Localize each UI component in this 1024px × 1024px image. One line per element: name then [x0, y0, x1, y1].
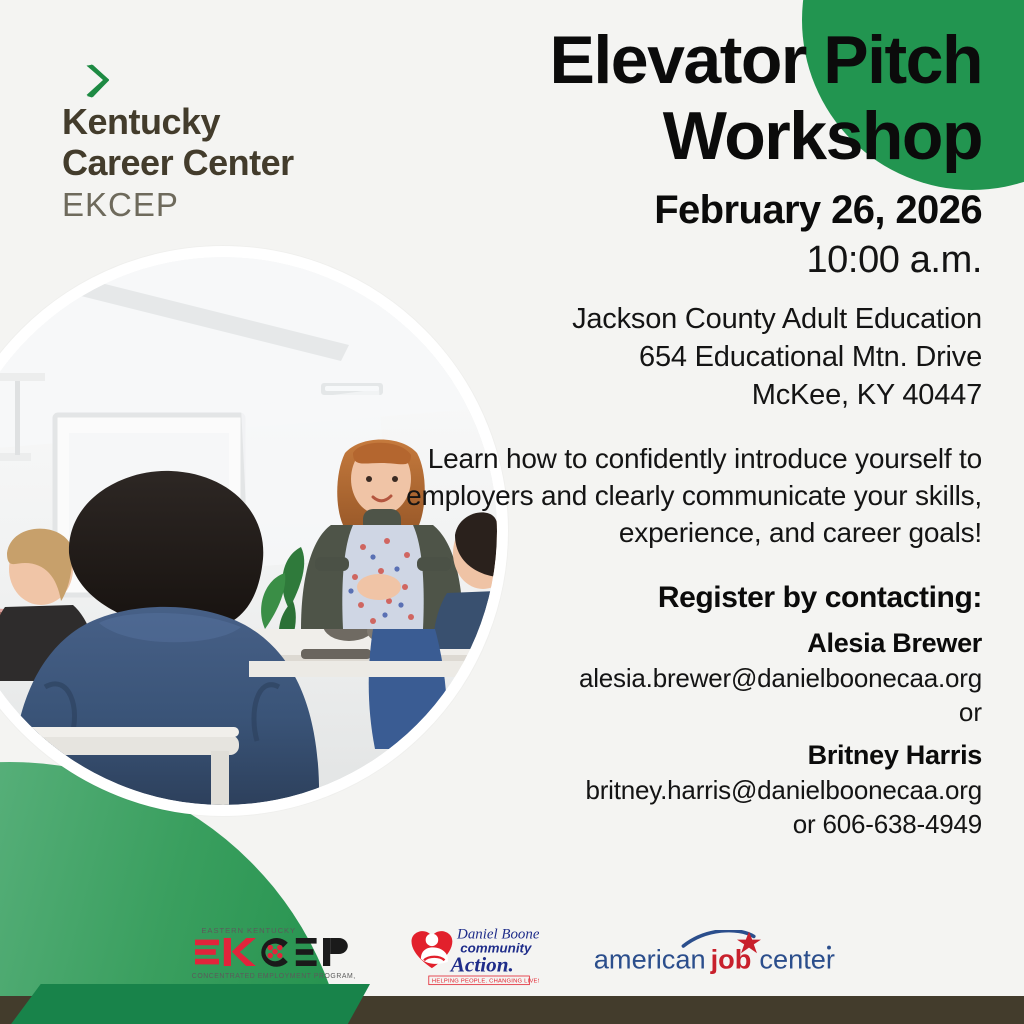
venue-line-2: 654 Educational Mtn. Drive — [404, 338, 982, 376]
kcc-line-ekcep: EKCEP — [62, 186, 294, 224]
event-flyer: Kentucky Career Center EKCEP — [0, 0, 1024, 1024]
register-heading: Register by contacting: — [404, 579, 982, 617]
event-date: February 26, 2026 — [404, 186, 982, 234]
dbca-tagline: HELPING PEOPLE. CHANGING LIVES. — [432, 979, 539, 985]
ajc-part-1: american — [594, 943, 706, 974]
page-title: Elevator Pitch Workshop — [404, 22, 982, 174]
dbca-line-3: Action. — [449, 952, 514, 976]
ekcep-logo: EASTERN KENTUCKY — [187, 922, 355, 986]
contact-name-1: Alesia Brewer — [404, 625, 982, 661]
event-description: Learn how to confidently introduce yours… — [404, 440, 982, 551]
venue-line-1: Jackson County Adult Education — [404, 300, 982, 338]
ekcep-bottom-text: CONCENTRATED EMPLOYMENT PROGRAM, INC. — [192, 973, 355, 980]
contact-phone[interactable]: or 606-638-4949 — [404, 807, 982, 841]
ekcep-logo-graphic: EASTERN KENTUCKY — [187, 922, 355, 986]
kcc-line-career-center: Career Center — [62, 142, 294, 184]
contact-email-1[interactable]: alesia.brewer@danielboonecaa.org — [404, 661, 982, 695]
title-line-2: Workshop — [663, 98, 982, 174]
american-job-center-logo: american job center — [589, 930, 837, 978]
chevron-right-icon — [84, 64, 110, 98]
contact-email-2[interactable]: britney.harris@danielboonecaa.org — [404, 773, 982, 807]
ajc-part-2: job — [710, 943, 752, 974]
kcc-line-kentucky: Kentucky — [62, 102, 294, 142]
partner-logos: EASTERN KENTUCKY — [0, 918, 1024, 990]
flyer-content: Elevator Pitch Workshop February 26, 202… — [404, 22, 982, 841]
contact-name-2: Britney Harris — [404, 737, 982, 773]
footer-green-angle-bar — [0, 984, 370, 1024]
dbca-logo-graphic: Daniel Boone community Action. HELPING P… — [405, 921, 539, 987]
kentucky-career-center-logo: Kentucky Career Center EKCEP — [62, 64, 294, 224]
venue-line-3: McKee, KY 40447 — [404, 376, 982, 414]
event-time: 10:00 a.m. — [404, 236, 982, 284]
ajc-part-3: center — [759, 943, 835, 974]
title-line-1: Elevator Pitch — [550, 22, 983, 98]
contact-separator: or — [404, 695, 982, 729]
ajc-logo-graphic: american job center — [589, 930, 837, 978]
event-venue: Jackson County Adult Education 654 Educa… — [404, 300, 982, 414]
ekcep-top-text: EASTERN KENTUCKY — [201, 926, 296, 935]
daniel-boone-community-action-logo: Daniel Boone community Action. HELPING P… — [405, 921, 539, 987]
